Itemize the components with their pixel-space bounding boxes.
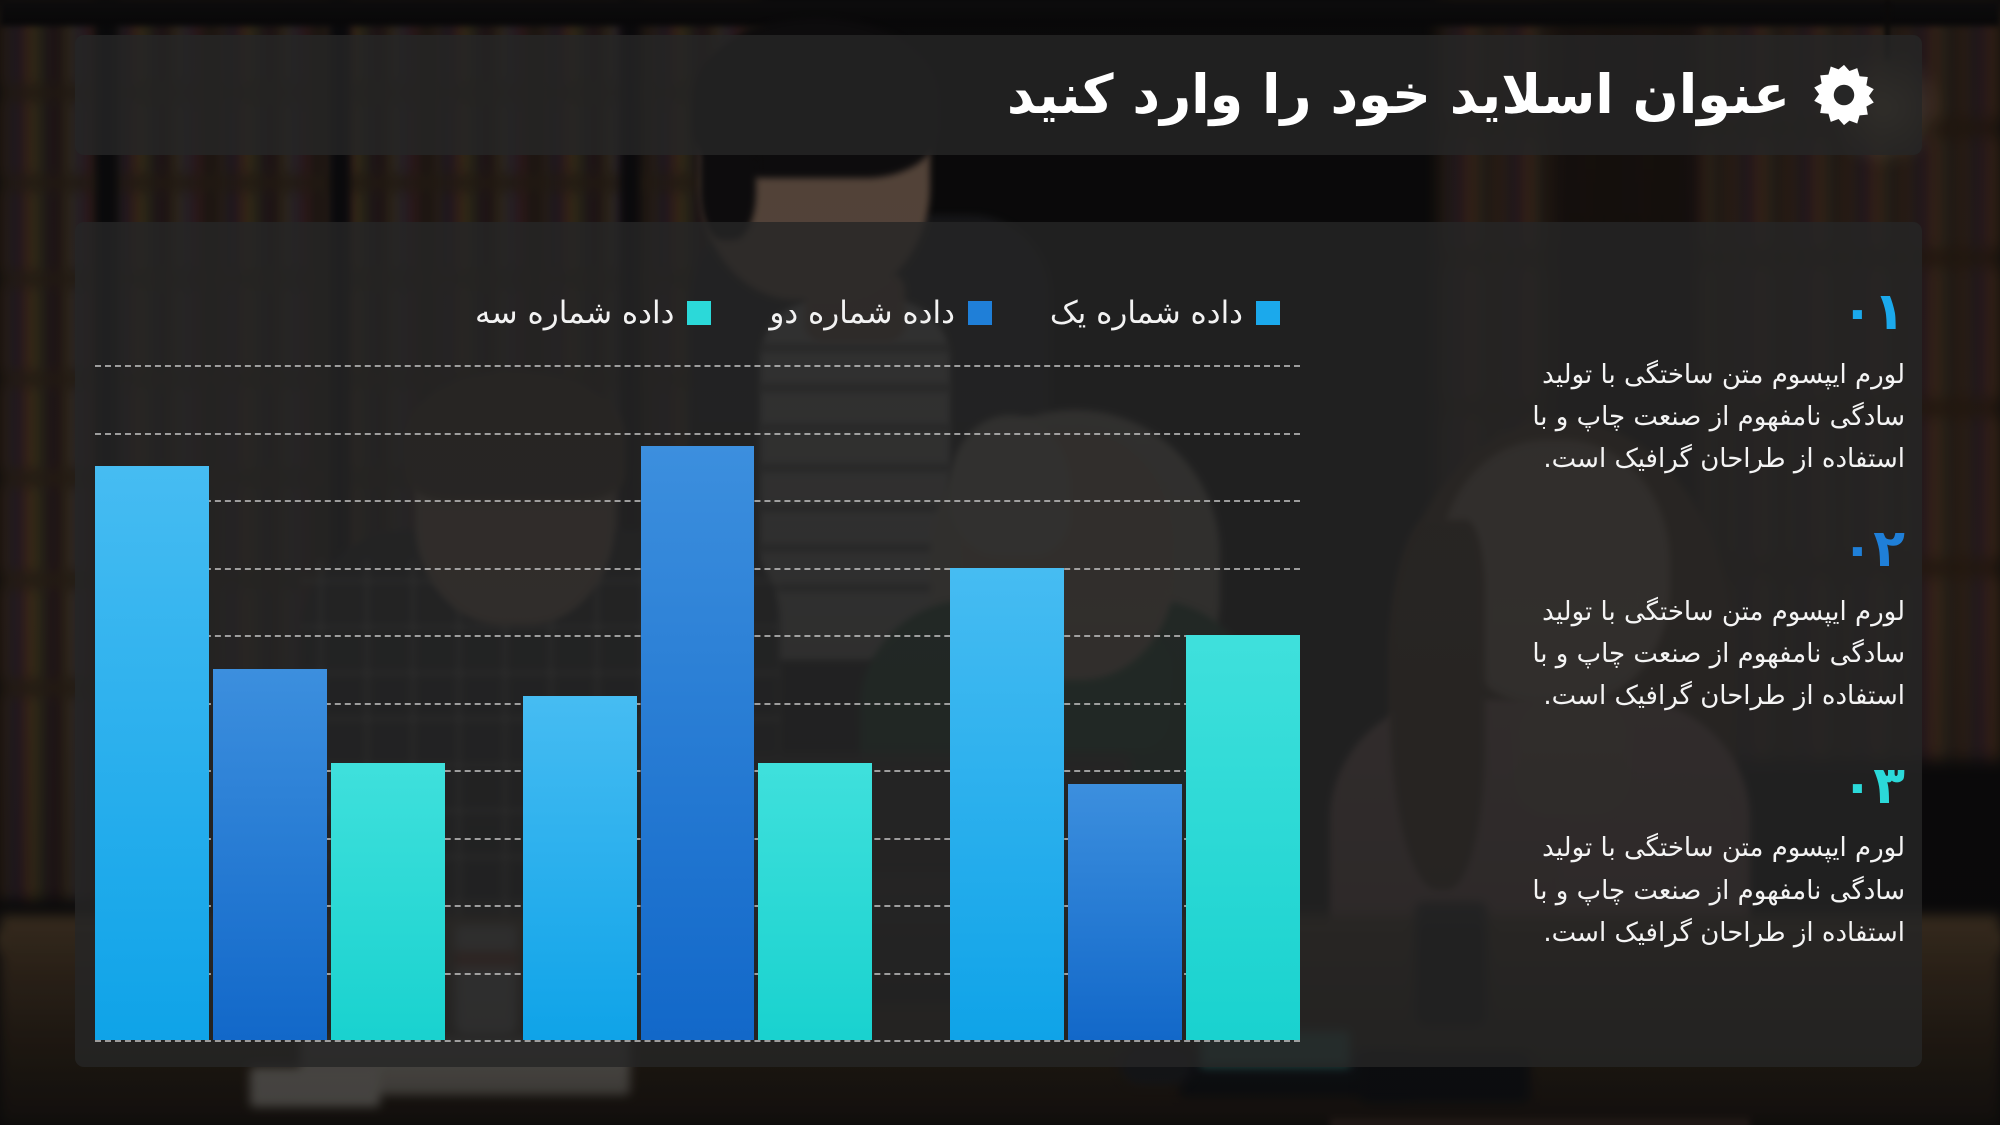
sidebar-item-1-number: ۰۱ — [1460, 285, 1905, 340]
legend-item-1[interactable]: داده شماره یک — [1050, 295, 1280, 331]
sidebar-item-2[interactable]: ۰۲ لورم ایپسوم متن ساختگی با تولید سادگی… — [1460, 522, 1905, 717]
chart-legend: داده شماره یک داده شماره دو داده شماره س… — [475, 295, 1280, 331]
sidebar-item-2-number: ۰۲ — [1460, 522, 1905, 577]
bar-chart: داده شماره یک داده شماره دو داده شماره س… — [95, 255, 1300, 1055]
sidebar-item-3-text: لورم ایپسوم متن ساختگی با تولید سادگی نا… — [1460, 827, 1905, 953]
page-title: عنوان اسلاید خود را وارد کنید — [1007, 68, 1790, 122]
legend-swatch-icon-2 — [968, 301, 992, 325]
legend-label-2: داده شماره دو — [769, 295, 955, 331]
legend-item-2[interactable]: داده شماره دو — [769, 295, 992, 331]
bar-group-3-series-1[interactable] — [950, 568, 1064, 1041]
sidebar-item-1[interactable]: ۰۱ لورم ایپسوم متن ساختگی با تولید سادگی… — [1460, 285, 1905, 480]
gridline — [95, 1040, 1300, 1042]
sidebar: ۰۱ لورم ایپسوم متن ساختگی با تولید سادگی… — [1460, 285, 1905, 996]
chart-bars — [95, 365, 1300, 1040]
bar-group-1-series-2[interactable] — [213, 669, 327, 1040]
gear-icon — [1812, 63, 1876, 127]
sidebar-item-3[interactable]: ۰۳ لورم ایپسوم متن ساختگی با تولید سادگی… — [1460, 759, 1905, 954]
bar-group-2-series-2[interactable] — [641, 446, 755, 1040]
legend-swatch-icon-1 — [1256, 301, 1280, 325]
chart-plot-area — [95, 365, 1300, 1040]
legend-label-1: داده شماره یک — [1050, 295, 1243, 331]
bar-group-3-series-3[interactable] — [1186, 635, 1300, 1040]
bar-group-1-series-3[interactable] — [331, 763, 445, 1040]
header-panel: عنوان اسلاید خود را وارد کنید — [75, 35, 1922, 155]
legend-item-3[interactable]: داده شماره سه — [475, 295, 711, 331]
bar-group-1-series-1[interactable] — [95, 466, 209, 1040]
sidebar-item-2-text: لورم ایپسوم متن ساختگی با تولید سادگی نا… — [1460, 591, 1905, 717]
bar-group-3-series-2[interactable] — [1068, 784, 1182, 1041]
bar-group-2-series-3[interactable] — [758, 763, 872, 1040]
legend-label-3: داده شماره سه — [475, 295, 674, 331]
sidebar-item-3-number: ۰۳ — [1460, 759, 1905, 814]
bar-group-2-series-1[interactable] — [523, 696, 637, 1040]
sidebar-item-1-text: لورم ایپسوم متن ساختگی با تولید سادگی نا… — [1460, 354, 1905, 480]
legend-swatch-icon-3 — [687, 301, 711, 325]
